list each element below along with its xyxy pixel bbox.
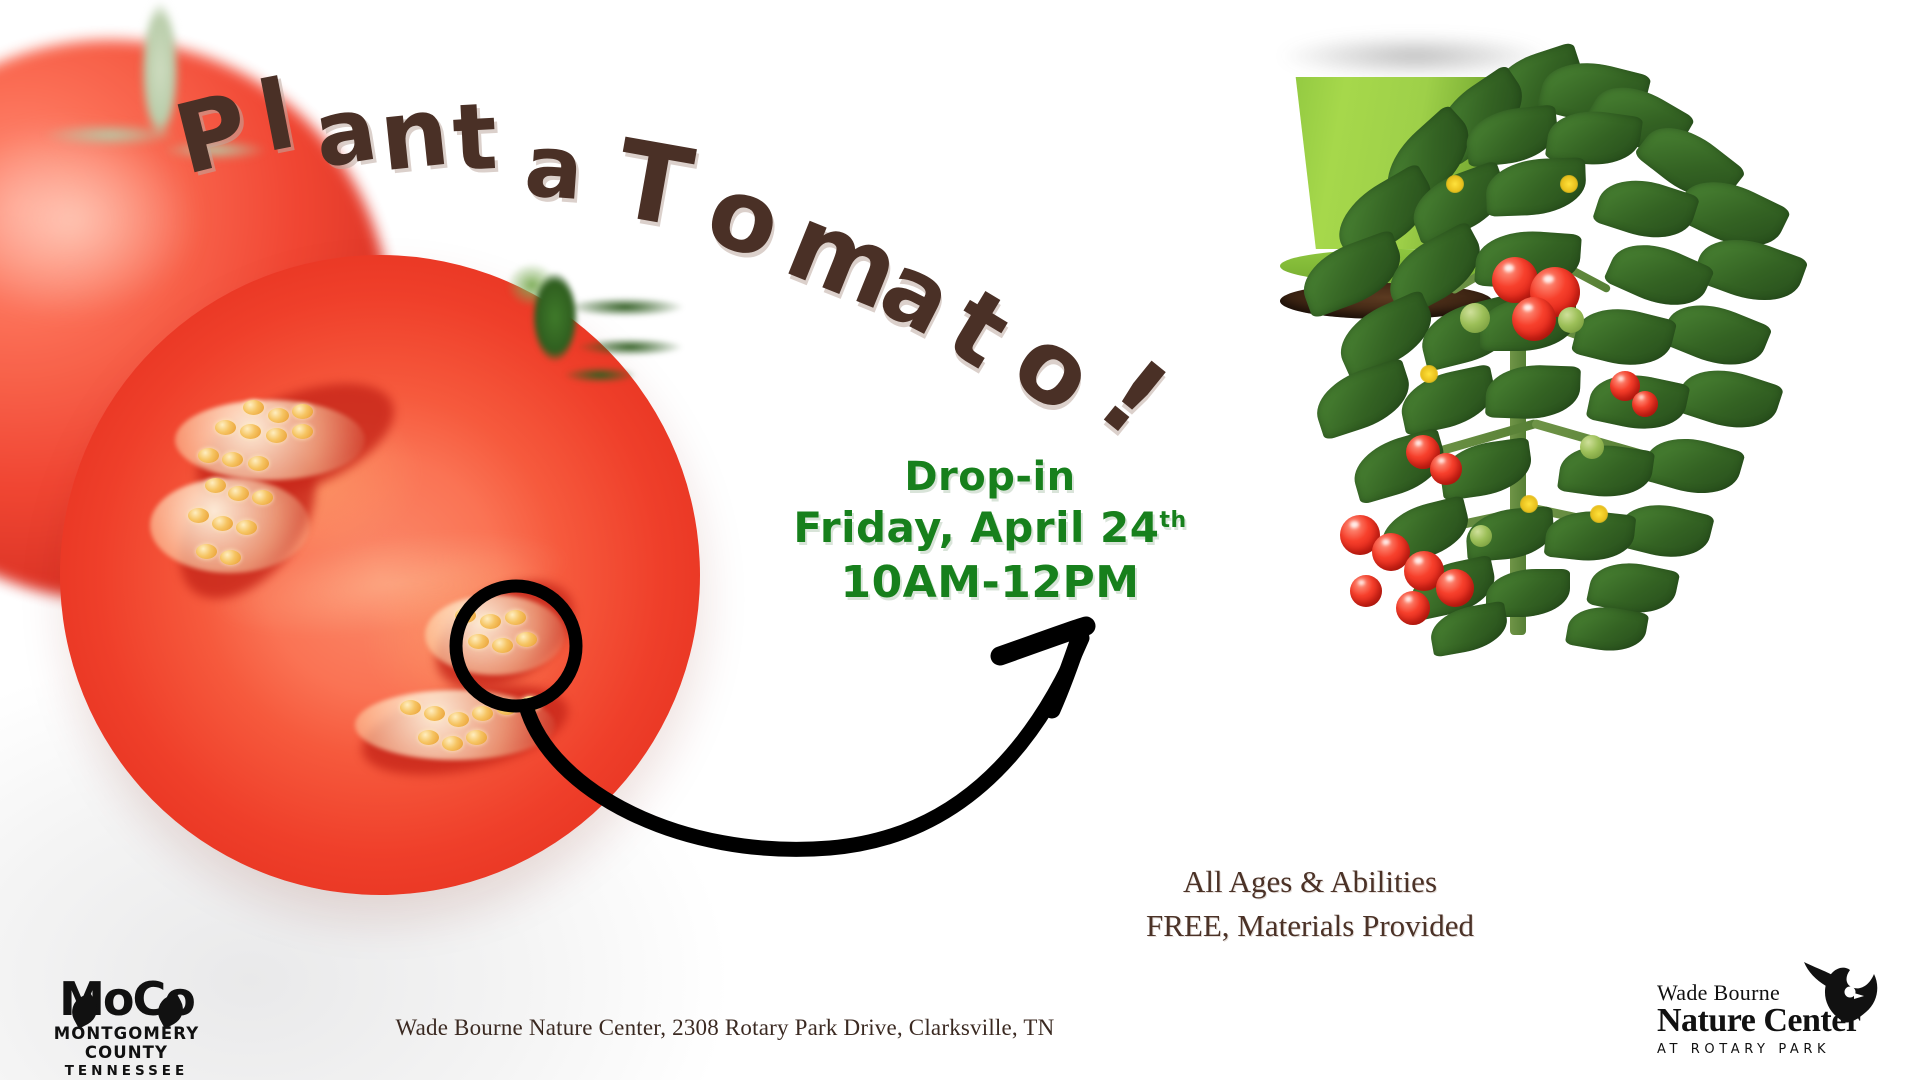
plant-branch xyxy=(1530,504,1639,536)
whole-tomato-stem xyxy=(40,0,270,200)
plant-leaf xyxy=(1633,110,1746,216)
moco-county-label: MONTGOMERY COUNTY xyxy=(24,1024,229,1062)
tomato-seed xyxy=(222,452,243,467)
unripe-tomato xyxy=(1460,303,1490,333)
plant-leaf xyxy=(1615,495,1715,567)
tomato-seed xyxy=(240,424,261,439)
plant-branch xyxy=(1430,504,1539,536)
wbnc-line-at-rotary-park: AT ROTARY PARK xyxy=(1657,1042,1892,1057)
headline-letter: t xyxy=(450,83,499,192)
plant-leaf xyxy=(1427,601,1511,658)
plant-leaf xyxy=(1293,229,1411,319)
headline-letter: n xyxy=(374,75,453,193)
headline-letter: a xyxy=(864,232,969,357)
plant-leaf xyxy=(1545,105,1644,171)
cherry-tomato xyxy=(1492,257,1538,303)
moco-wordmark: MoCo xyxy=(24,978,229,1021)
flyer-canvas: PlantaTomato! Drop-in Friday, April 24th… xyxy=(0,0,1920,1080)
plant-leaf xyxy=(1485,363,1581,420)
plant-leaf xyxy=(1674,357,1785,441)
plant-leaf xyxy=(1544,507,1637,566)
tomato-seed xyxy=(220,550,241,565)
plant-leaf xyxy=(1376,220,1493,319)
cherry-tomato xyxy=(1436,569,1474,607)
plant-leaf xyxy=(1422,64,1537,168)
potted-tomato-plant-image xyxy=(1280,35,1800,755)
tomato-blossom xyxy=(1420,365,1438,383)
headline-letter: t xyxy=(928,266,1028,390)
blurb-line-ages: All Ages & Abilities xyxy=(1090,860,1530,904)
plant-leaf xyxy=(1586,555,1681,622)
tomato-seed xyxy=(292,424,313,439)
cherry-tomato xyxy=(1430,453,1462,485)
cherry-tomato xyxy=(1632,391,1658,417)
headline-letter: a xyxy=(522,116,586,220)
tomato-blossom xyxy=(1560,175,1578,193)
headline-letter: m xyxy=(771,180,916,333)
bird-silhouette-icon xyxy=(1800,962,1886,1028)
plant-leaf xyxy=(1375,495,1475,567)
event-details: Drop-in Friday, April 24th 10AM-12PM xyxy=(760,452,1220,611)
plant-branch xyxy=(1528,244,1611,293)
plant-leaf xyxy=(1329,289,1443,381)
tomato-locule xyxy=(152,421,342,624)
plant-leaf xyxy=(1395,364,1500,437)
cherry-tomato xyxy=(1350,575,1382,607)
plant-leaf xyxy=(1565,601,1649,658)
tomato-seed xyxy=(188,508,209,523)
unripe-tomato xyxy=(1580,435,1604,459)
event-date-label: Friday, April 24th xyxy=(760,502,1220,555)
tomato-blossom xyxy=(1520,495,1538,513)
plant-leaf xyxy=(1370,104,1486,217)
plant-branch xyxy=(1432,315,1537,365)
plant-branch xyxy=(1531,419,1649,461)
tomato-seed xyxy=(292,404,313,419)
tomato-blossom xyxy=(1446,175,1464,193)
plant-leaf xyxy=(1346,427,1451,505)
unripe-tomato xyxy=(1558,307,1584,333)
plant-leaf xyxy=(1603,229,1715,320)
unripe-tomato xyxy=(1470,525,1492,547)
plant-leaf xyxy=(1325,162,1446,265)
plant-branch xyxy=(1449,243,1531,295)
event-blurb: All Ages & Abilities FREE, Materials Pro… xyxy=(1090,860,1530,948)
event-dropin-label: Drop-in xyxy=(760,452,1220,502)
plant-leaf xyxy=(1308,357,1419,441)
tomato-locule xyxy=(180,359,410,526)
plant-leaf xyxy=(1481,42,1590,127)
tomato-seed xyxy=(212,516,233,531)
tomato-seed xyxy=(266,428,287,443)
blurb-line-free: FREE, Materials Provided xyxy=(1090,904,1530,948)
tomato-seed xyxy=(228,486,249,501)
plant-leaf xyxy=(1415,294,1524,372)
tomato-blossom xyxy=(1590,505,1608,523)
plant-leaf xyxy=(1480,297,1576,351)
whole-tomato-highlight xyxy=(0,120,200,320)
event-time-label: 10AM-12PM xyxy=(760,555,1220,610)
moco-state-label: TENNESSEE xyxy=(24,1063,229,1079)
tomato-seed xyxy=(215,420,236,435)
cherry-tomato xyxy=(1512,297,1556,341)
cherry-tomato xyxy=(1530,267,1580,317)
plant-leaf xyxy=(1474,227,1582,292)
tomato-seed xyxy=(243,400,264,415)
plant-leaf xyxy=(1557,439,1655,503)
cherry-tomato xyxy=(1396,591,1430,625)
headline-letter: ! xyxy=(1077,335,1190,459)
plant-leaf xyxy=(1486,569,1570,617)
plant-leaf xyxy=(1403,160,1514,246)
wade-bourne-nature-center-logo: Wade Bourne Nature Center AT ROTARY PARK xyxy=(1657,980,1892,1057)
plant-leaf xyxy=(1463,104,1560,167)
plant-leaf xyxy=(1464,506,1555,562)
plant-leaf xyxy=(1485,157,1587,216)
plant-leaf xyxy=(1584,71,1695,167)
cherry-tomato xyxy=(1372,533,1410,571)
headline-letter: a xyxy=(307,76,382,189)
plant-leaf xyxy=(1536,51,1651,134)
tomato-seed xyxy=(248,456,269,471)
plant-branch xyxy=(1537,316,1643,362)
plant-leaf xyxy=(1673,165,1792,263)
plant-leaf xyxy=(1640,427,1745,505)
cherry-tomato xyxy=(1610,371,1640,401)
montgomery-county-logo: MoCo MONTGOMERY COUNTY TENNESSEE PARKS A… xyxy=(24,978,229,1080)
tomato-seed xyxy=(196,544,217,559)
page-title: PlantaTomato! xyxy=(165,18,1225,388)
plant-leaf xyxy=(1437,437,1535,501)
cherry-tomato xyxy=(1404,551,1444,591)
headline-letter: l xyxy=(250,58,303,174)
cherry-tomato xyxy=(1340,515,1380,555)
tomato-seed xyxy=(198,448,219,463)
cherry-tomato xyxy=(1406,435,1440,469)
plant-branch xyxy=(1421,419,1539,461)
sliced-tomato-stem xyxy=(460,255,730,435)
headline-letter: o xyxy=(993,301,1116,436)
plant-leaf xyxy=(1585,366,1690,439)
tomato-seed xyxy=(400,700,421,715)
plant-stem xyxy=(1510,235,1526,635)
tomato-seed xyxy=(236,520,257,535)
plant-leaf xyxy=(1659,290,1773,379)
plant-leaf xyxy=(1571,298,1678,376)
whole-tomato-image xyxy=(0,40,390,600)
tomato-seed xyxy=(268,408,289,423)
plant-leaf xyxy=(1691,225,1809,315)
tomato-seed xyxy=(252,490,273,505)
plant-leaf xyxy=(1406,555,1501,622)
headline-letter: T xyxy=(607,117,700,253)
tomato-seed xyxy=(205,478,226,493)
headline-letter: o xyxy=(695,151,792,282)
plant-leaf xyxy=(1592,168,1701,251)
tomato-pulp xyxy=(175,400,365,480)
headline-letter: P xyxy=(164,71,258,196)
tomato-pulp xyxy=(150,478,310,573)
